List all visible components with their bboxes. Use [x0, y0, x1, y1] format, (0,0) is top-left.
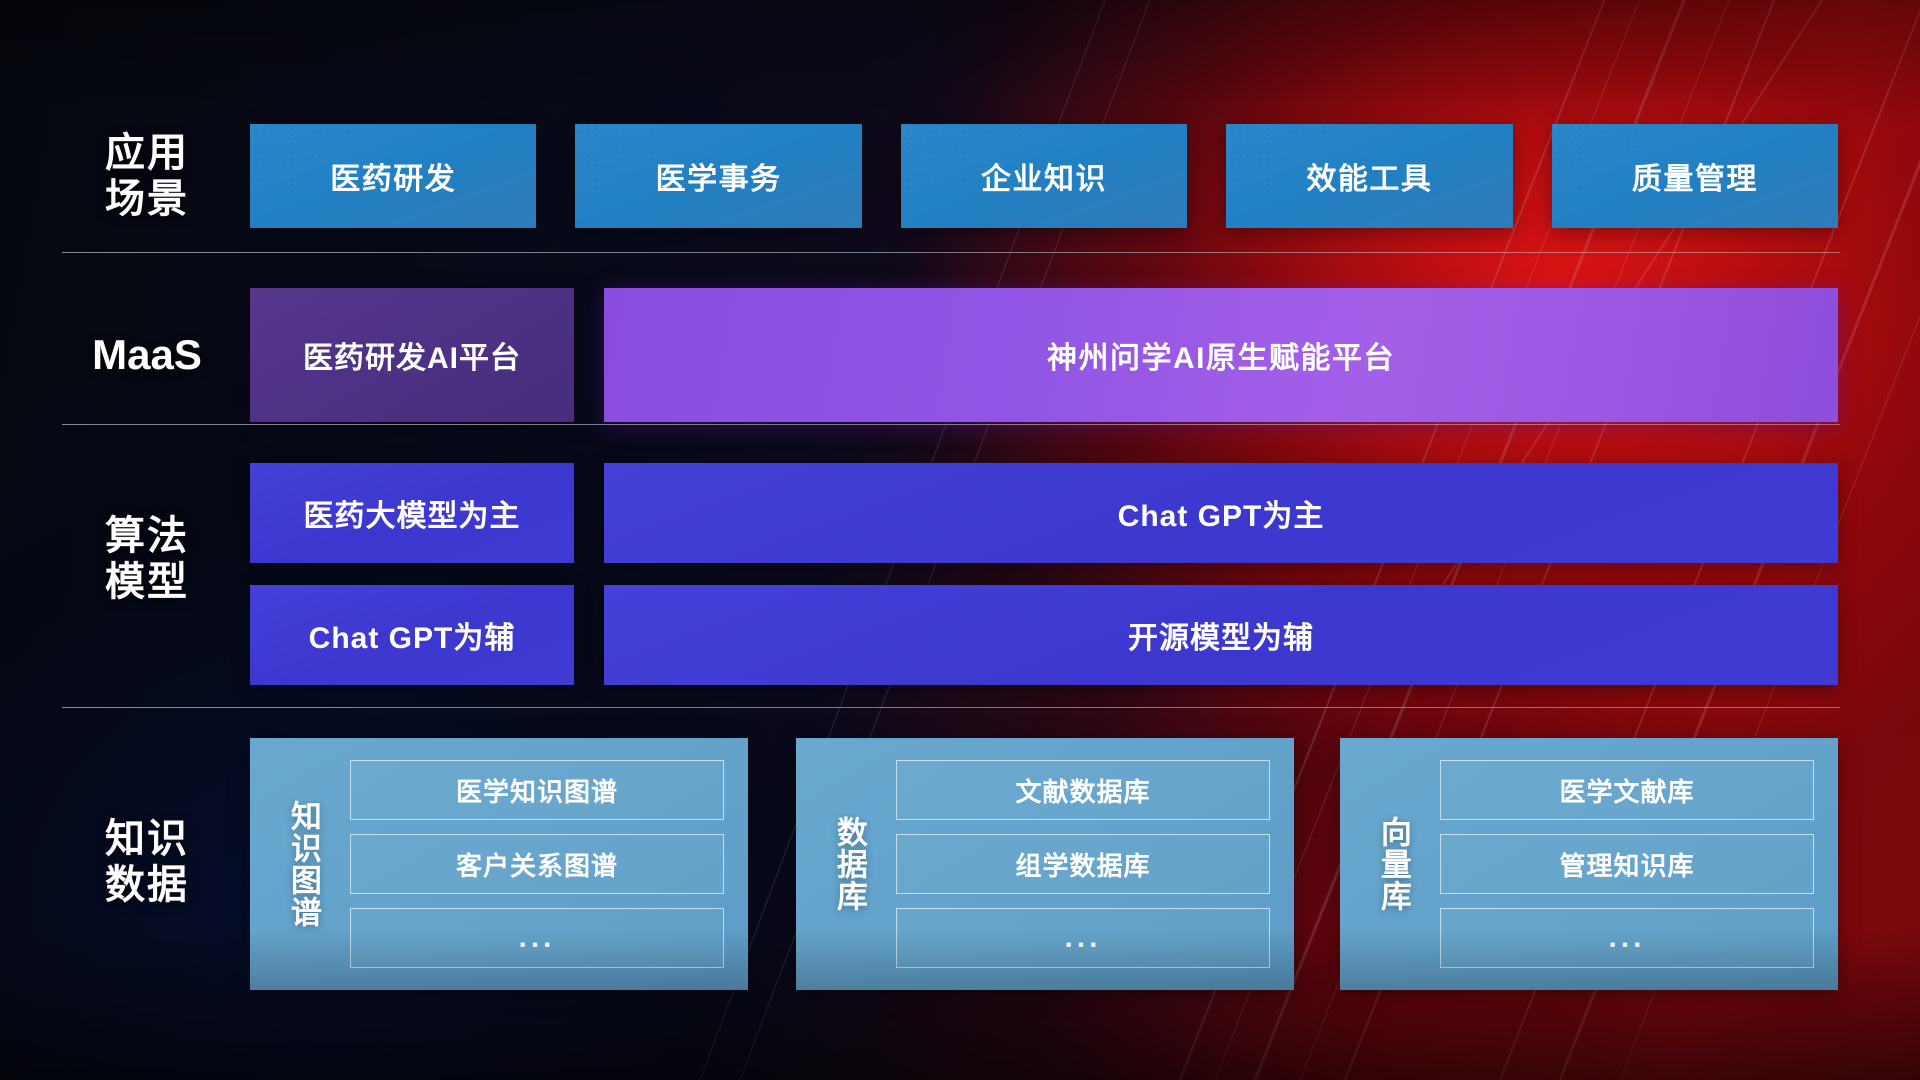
- row-knowledge-data: 知识 数据 知识图谱 医学知识图谱 客户关系图谱 ... 数据库 文献数据库 组…: [0, 738, 1920, 990]
- knowledge-item-more-knowledge-graph[interactable]: ...: [350, 908, 724, 968]
- model-box-chatgpt-primary[interactable]: Chat GPT为主: [604, 463, 1838, 563]
- model-left-column: 医药大模型为主 Chat GPT为辅: [250, 463, 574, 685]
- knowledge-item-medical-knowledge-graph[interactable]: 医学知识图谱: [350, 760, 724, 820]
- knowledge-item-omics-database[interactable]: 组学数据库: [896, 834, 1270, 894]
- model-box-pharma-llm-primary[interactable]: 医药大模型为主: [250, 463, 574, 563]
- row-label-algorithm-models: 算法 模型: [62, 513, 232, 606]
- knowledge-item-list: 医学知识图谱 客户关系图谱 ...: [340, 760, 732, 968]
- slide-canvas: 应用 场景 医药研发 医学事务 企业知识 效能工具 质量管理 MaaS 医药研发…: [0, 0, 1920, 1080]
- row-maas: MaaS 医药研发AI平台 神州问学AI原生赋能平台: [0, 288, 1920, 422]
- app-box-medicine-rd[interactable]: 医药研发: [250, 124, 536, 228]
- maas-box-pharma-ai-platform[interactable]: 医药研发AI平台: [250, 288, 574, 422]
- knowledge-item-more-database[interactable]: ...: [896, 908, 1270, 968]
- maas-box-shenzhou-wenxue-platform[interactable]: 神州问学AI原生赋能平台: [604, 288, 1838, 422]
- knowledge-panel-database: 数据库 文献数据库 组学数据库 ...: [796, 738, 1294, 990]
- row-algorithm-models: 算法 模型 医药大模型为主 Chat GPT为辅 Chat GPT为主 开源模型…: [0, 463, 1920, 685]
- divider-after-algorithm-models: [62, 707, 1840, 708]
- knowledge-item-literature-database[interactable]: 文献数据库: [896, 760, 1270, 820]
- knowledge-panel-vector-store: 向量库 医学文献库 管理知识库 ...: [1340, 738, 1838, 990]
- model-box-chatgpt-secondary[interactable]: Chat GPT为辅: [250, 585, 574, 685]
- app-box-efficiency-tools[interactable]: 效能工具: [1226, 124, 1512, 228]
- row-label-application-scenarios: 应用 场景: [62, 130, 232, 223]
- divider-after-maas: [62, 424, 1840, 425]
- application-scenario-track: 医药研发 医学事务 企业知识 效能工具 质量管理: [250, 124, 1838, 228]
- model-box-opensource-secondary[interactable]: 开源模型为辅: [604, 585, 1838, 685]
- knowledge-item-medical-literature-store[interactable]: 医学文献库: [1440, 760, 1814, 820]
- row-label-knowledge-data: 知识 数据: [62, 816, 232, 909]
- row-label-maas: MaaS: [62, 331, 232, 380]
- app-box-enterprise-knowledge[interactable]: 企业知识: [901, 124, 1187, 228]
- app-box-quality-management[interactable]: 质量管理: [1552, 124, 1838, 228]
- row-application-scenarios: 应用 场景 医药研发 医学事务 企业知识 效能工具 质量管理: [0, 124, 1920, 228]
- knowledge-panel-label-knowledge-graph: 知识图谱: [266, 752, 340, 976]
- divider-after-application-scenarios: [62, 252, 1840, 253]
- model-right-column: Chat GPT为主 开源模型为辅: [604, 463, 1838, 685]
- knowledge-panel-label-database: 数据库: [812, 752, 886, 976]
- knowledge-item-list: 医学文献库 管理知识库 ...: [1430, 760, 1822, 968]
- knowledge-panel-knowledge-graph: 知识图谱 医学知识图谱 客户关系图谱 ...: [250, 738, 748, 990]
- knowledge-item-more-vector-store[interactable]: ...: [1440, 908, 1814, 968]
- knowledge-item-management-knowledge-store[interactable]: 管理知识库: [1440, 834, 1814, 894]
- knowledge-item-customer-relation-graph[interactable]: 客户关系图谱: [350, 834, 724, 894]
- knowledge-panel-label-vector-store: 向量库: [1356, 752, 1430, 976]
- knowledge-item-list: 文献数据库 组学数据库 ...: [886, 760, 1278, 968]
- app-box-medical-affairs[interactable]: 医学事务: [575, 124, 861, 228]
